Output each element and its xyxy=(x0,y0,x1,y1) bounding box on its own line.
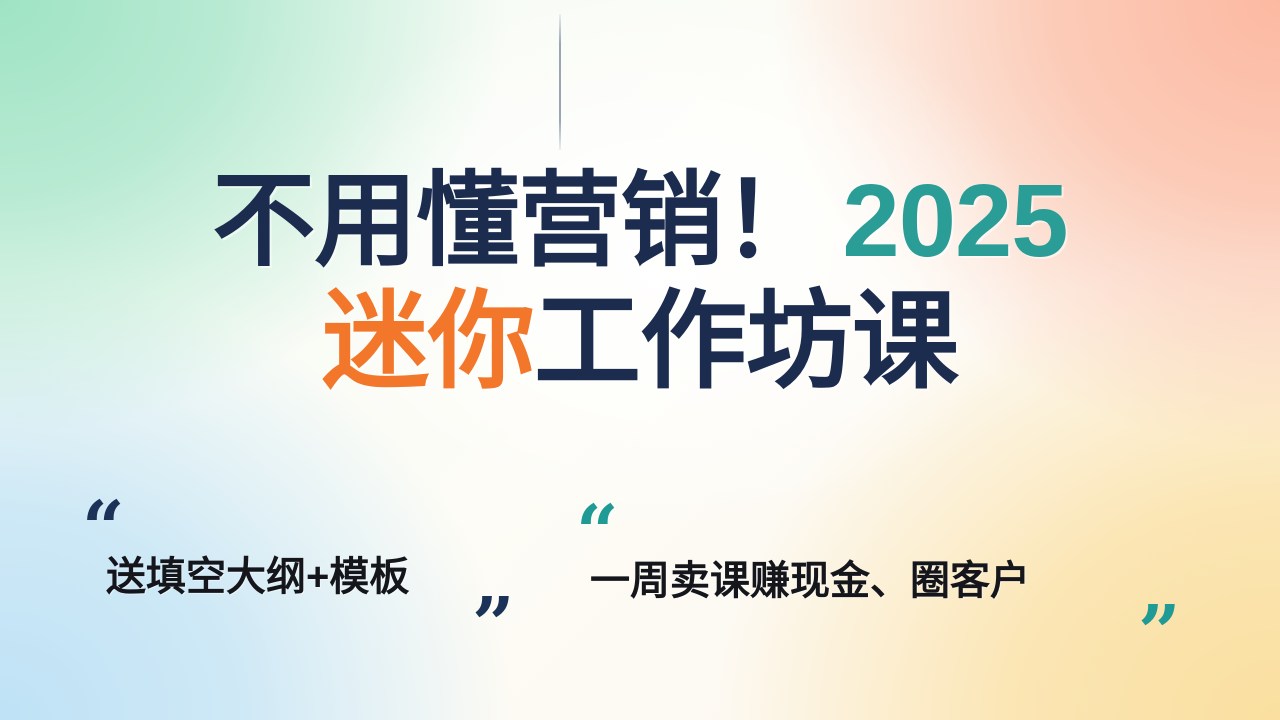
quote-close-icon: ” xyxy=(1138,596,1181,670)
headline-line2-orange-text: 迷你 xyxy=(322,281,534,401)
headline-line-1: 不用懂营销！2025 xyxy=(0,168,1280,273)
quote-left-text: 送填空大纲+模板 xyxy=(106,544,409,602)
quote-block-right: “ 一周卖课赚现金、圈客户 ” xyxy=(560,492,1280,662)
headline-line1-navy-text: 不用懂营销！ xyxy=(212,163,824,278)
quote-right-text: 一周卖课赚现金、圈客户 xyxy=(590,548,1030,606)
quote-close-icon: ” xyxy=(472,588,515,662)
headline: 不用懂营销！2025 迷你工作坊课 xyxy=(0,168,1280,396)
headline-line2-navy-text: 工作坊课 xyxy=(534,281,958,401)
headline-line1-year: 2025 xyxy=(842,163,1067,278)
promo-poster: 不用懂营销！2025 迷你工作坊课 “ 送填空大纲+模板 ” “ 一周卖课赚现金… xyxy=(0,0,1280,720)
quote-divider xyxy=(559,14,561,150)
quote-band: “ 送填空大纲+模板 ” “ 一周卖课赚现金、圈客户 ” xyxy=(0,492,1280,662)
quote-block-left: “ 送填空大纲+模板 ” xyxy=(0,492,560,662)
headline-line-2: 迷你工作坊课 xyxy=(0,287,1280,396)
